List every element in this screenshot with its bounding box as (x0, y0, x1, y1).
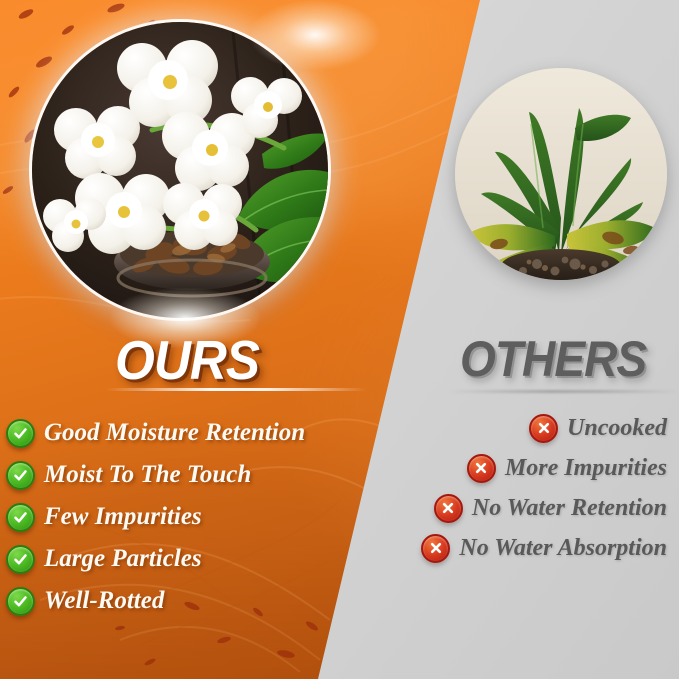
list-item: More Impurities (421, 448, 667, 488)
check-circle-icon (6, 545, 35, 574)
others-heading: OTHERS (460, 330, 646, 388)
ours-heading: OURS (115, 328, 259, 392)
list-item: No Water Retention (421, 488, 667, 528)
ours-feature-list: Good Moisture Retention Moist To The Tou… (6, 412, 305, 622)
list-item: Moist To The Touch (6, 454, 305, 496)
list-item-label: Well-Rotted (44, 587, 164, 615)
others-product-photo (455, 68, 667, 280)
list-item: Good Moisture Retention (6, 412, 305, 454)
list-item-label: Moist To The Touch (44, 461, 251, 489)
others-heading-underline (448, 390, 678, 393)
cross-circle-icon (434, 494, 463, 523)
list-item-label: Good Moisture Retention (44, 419, 305, 447)
comparison-infographic: OURS OTHERS Good Moisture Retention Mois… (0, 0, 679, 679)
check-circle-icon (6, 461, 35, 490)
list-item: Well-Rotted (6, 580, 305, 622)
check-circle-icon (6, 587, 35, 616)
list-item: Few Impurities (6, 496, 305, 538)
list-item-label: Uncooked (567, 415, 667, 442)
list-item: No Water Absorption (421, 528, 667, 568)
list-item: Large Particles (6, 538, 305, 580)
list-item-label: Few Impurities (44, 503, 202, 531)
others-feature-list: Uncooked More Impurities No Water Retent… (421, 408, 667, 568)
ours-product-photo (32, 22, 328, 318)
check-circle-icon (6, 503, 35, 532)
list-item-label: Large Particles (44, 545, 202, 573)
cross-circle-icon (421, 534, 450, 563)
list-item: Uncooked (421, 408, 667, 448)
ours-heading-underline (105, 388, 367, 391)
list-item-label: More Impurities (505, 455, 667, 482)
list-item-label: No Water Absorption (459, 535, 667, 562)
cross-circle-icon (467, 454, 496, 483)
cross-circle-icon (529, 414, 558, 443)
list-item-label: No Water Retention (472, 495, 667, 522)
check-circle-icon (6, 419, 35, 448)
